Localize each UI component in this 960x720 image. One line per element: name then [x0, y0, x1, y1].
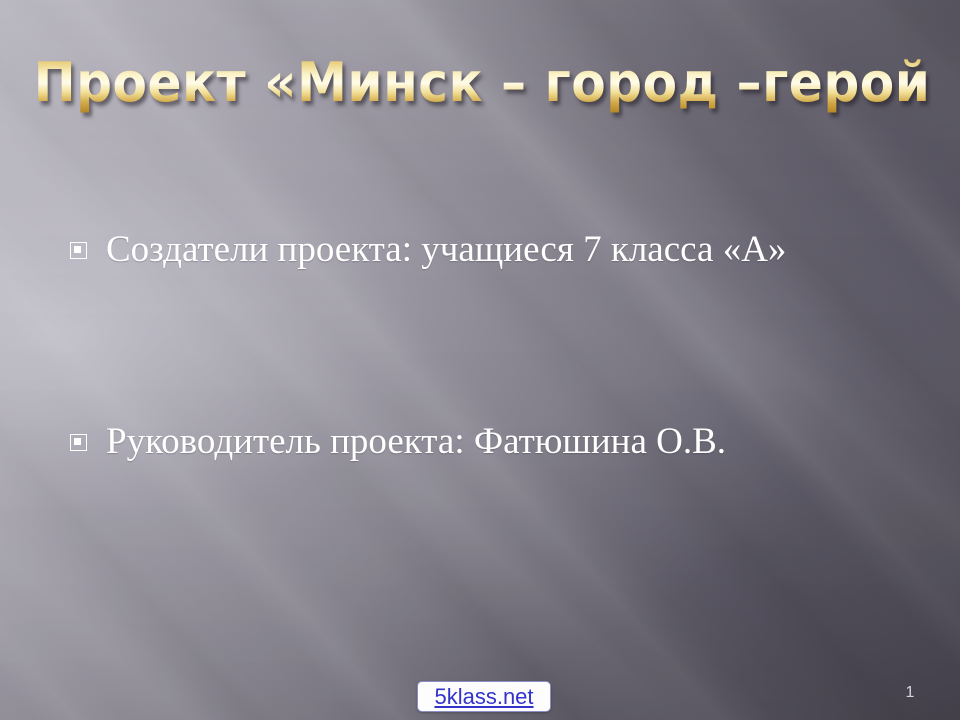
presentation-slide: Проект «Минск – город –герой» Создатели … [0, 0, 960, 720]
list-item: Создатели проекта: учащиеся 7 класса «А» [70, 228, 930, 272]
list-item: Руководитель проекта: Фатюшина О.В. [70, 420, 930, 464]
slide-title: Проект «Минск – город –герой» [34, 52, 927, 114]
list-item-label: Создатели проекта: учащиеся 7 класса «А» [106, 228, 786, 272]
slide-body: Создатели проекта: учащиеся 7 класса «А»… [70, 228, 930, 612]
square-bullet-icon [70, 242, 87, 259]
list-item-label: Руководитель проекта: Фатюшина О.В. [106, 420, 726, 464]
square-bullet-icon [70, 434, 87, 451]
page-number: 1 [895, 684, 925, 702]
watermark-link[interactable]: 5klass.net [434, 684, 533, 710]
watermark-badge[interactable]: 5klass.net [417, 681, 551, 712]
